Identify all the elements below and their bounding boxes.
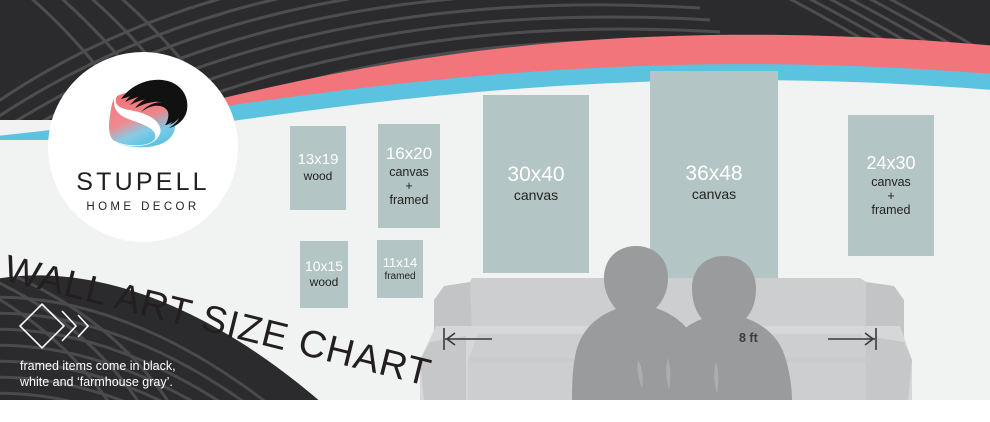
frame-size-label: 16x20 <box>386 145 432 163</box>
framed-items-note: framed items come in black, white and ‘f… <box>20 358 176 390</box>
frame-size-label: 13x19 <box>298 152 339 168</box>
frame-size-label: 36x48 <box>685 163 742 185</box>
dimension-label: 8 ft <box>739 331 758 345</box>
frame-13x19[interactable]: 13x19 wood <box>290 126 346 210</box>
frame-16x20[interactable]: 16x20 canvas + framed <box>378 124 440 228</box>
wall-art-size-chart-infographic: 13x19 wood 16x20 canvas + framed 10x15 w… <box>0 0 990 422</box>
brand-tagline: HOME DECOR <box>86 201 199 213</box>
stupell-swoosh-logo-icon <box>83 66 203 164</box>
frame-kind-label: canvas <box>514 188 558 204</box>
frame-kind-label: canvas <box>692 187 736 203</box>
frame-kind-label: canvas + framed <box>389 165 429 207</box>
frame-size-label: 24x30 <box>866 154 915 173</box>
brand-name: STUPELL <box>76 168 210 197</box>
frame-kind-label: wood <box>304 170 333 183</box>
frame-size-label: 30x40 <box>507 164 564 186</box>
brand-logo-badge[interactable]: STUPELL HOME DECOR <box>48 52 238 242</box>
diamond-chevron-icon <box>18 300 104 352</box>
frame-kind-label: canvas + framed <box>871 175 911 217</box>
dimension-arrow-icon <box>430 320 890 360</box>
